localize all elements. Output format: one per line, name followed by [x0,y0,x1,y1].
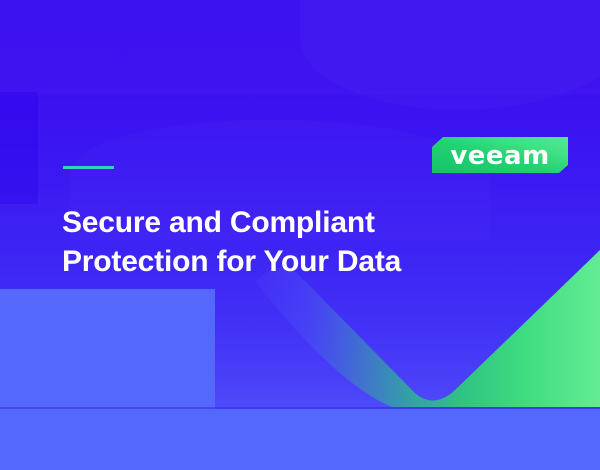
veeam-promo-banner: Secure and Compliant Protection for Your… [0,0,600,470]
page-title: Secure and Compliant Protection for Your… [62,203,522,281]
accent-rule [63,166,114,169]
panel-footer-band [0,409,600,470]
headline-line-1: Secure and Compliant [62,203,522,242]
headline-line-2: Protection for Your Data [62,242,522,281]
veeam-logo: veeam [432,137,568,173]
veeam-wordmark: veeam [432,137,568,173]
